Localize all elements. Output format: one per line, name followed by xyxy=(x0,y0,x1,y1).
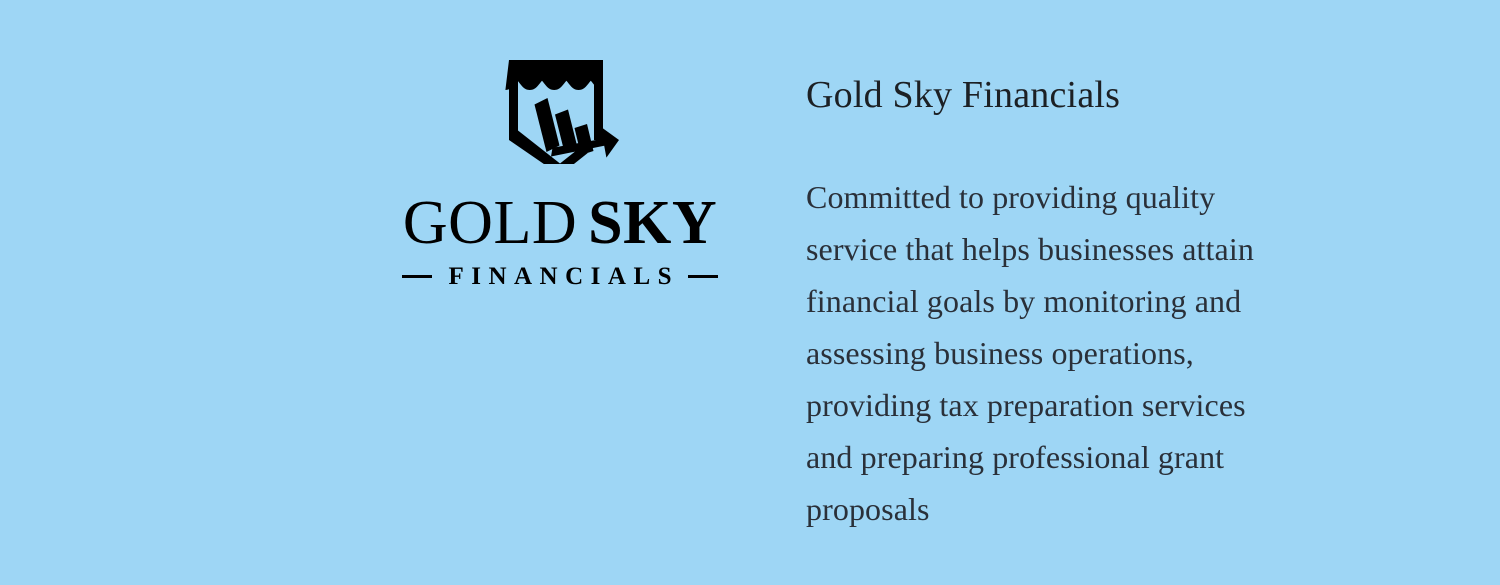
wordmark-word-sky: SKY xyxy=(588,189,717,257)
wordmark-word-gold: GOLD xyxy=(403,189,577,257)
wordmark-line: GOLDSKY xyxy=(402,192,718,254)
tagline-rule-right xyxy=(688,275,718,278)
page-title: Gold Sky Financials xyxy=(806,74,1286,118)
company-description: Committed to providing quality service t… xyxy=(806,118,1286,535)
storefront-chart-arrow-icon xyxy=(501,60,619,164)
logo-wordmark: GOLDSKY FINANCIALS xyxy=(402,192,718,289)
wordmark-tagline: FINANCIALS xyxy=(441,264,679,289)
company-logo: GOLDSKY FINANCIALS xyxy=(330,60,790,289)
company-profile-card: GOLDSKY FINANCIALS Gold Sky Financials C… xyxy=(0,0,1500,585)
tagline-rule-left xyxy=(402,275,432,278)
company-copy: Gold Sky Financials Committed to providi… xyxy=(806,74,1286,535)
wordmark-tagline-row: FINANCIALS xyxy=(402,264,718,289)
